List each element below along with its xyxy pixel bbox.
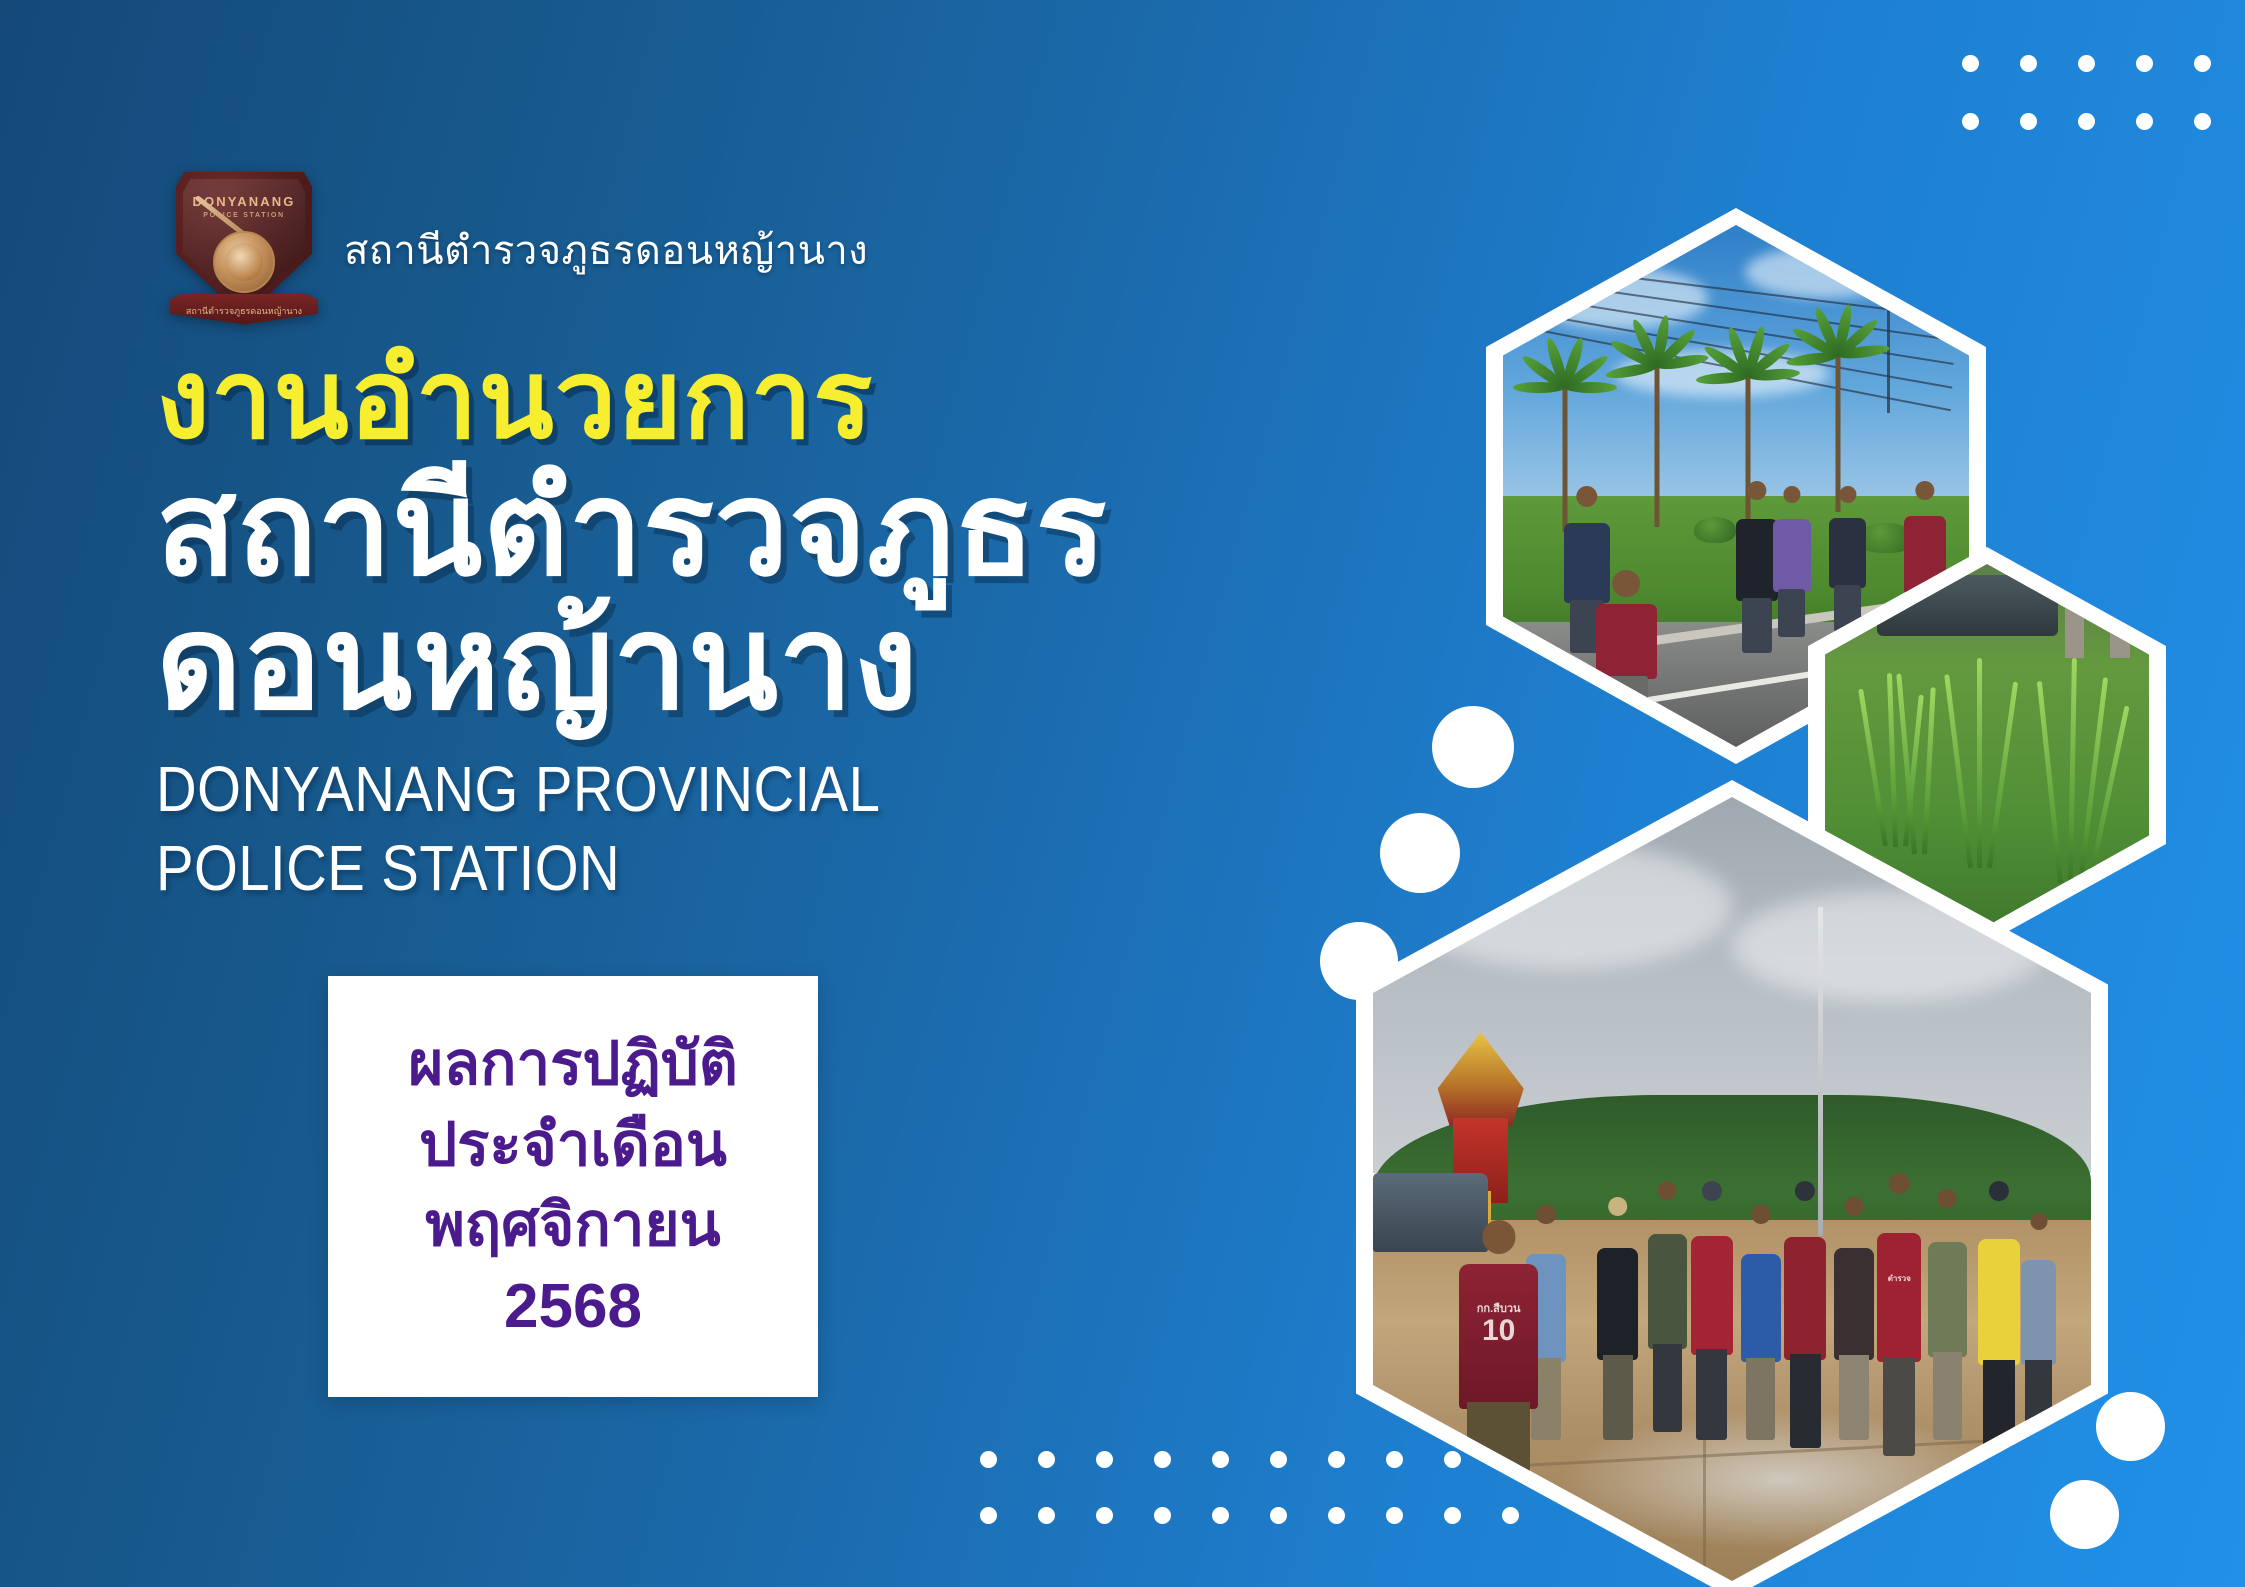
police-badge-icon: DONYANANG POLICE STATION สถานีตำรวจภูธรด…	[168, 168, 320, 332]
decor-dot	[1096, 1451, 1113, 1468]
attendee	[2019, 1213, 2058, 1440]
attendee	[1976, 1181, 2022, 1455]
decor-dot	[1444, 1451, 1461, 1468]
decor-dot	[1502, 1507, 1519, 1524]
attendee	[1596, 1197, 1641, 1440]
poster-canvas: DONYANANG POLICE STATION สถานีตำรวจภูธรด…	[0, 0, 2245, 1587]
attendee	[1689, 1181, 1735, 1440]
decor-dot	[2136, 113, 2153, 130]
decor-dot	[1962, 113, 1979, 130]
decor-dot	[2136, 55, 2153, 72]
report-line-3: พฤศจิกายน	[425, 1188, 720, 1262]
decor-dot	[1096, 1507, 1113, 1524]
decor-dot	[1328, 1507, 1345, 1524]
police-attendee: ตำรวจ	[1876, 1173, 1923, 1455]
jersey-badge-text: ตำรวจ	[1877, 1272, 1921, 1285]
decor-dot	[1328, 1451, 1345, 1468]
report-line-1: ผลการปฏิบัติ	[408, 1027, 738, 1101]
header-lockup: DONYANANG POLICE STATION สถานีตำรวจภูธรด…	[168, 168, 868, 332]
badge-top-text: DONYANANG	[168, 194, 320, 209]
dot-grid-top-right	[1921, 34, 2211, 150]
attendee	[1646, 1181, 1689, 1432]
subtitle-english-line-1: DONYANANG PROVINCIAL	[156, 755, 1265, 824]
report-line-2: ประจำเดือน	[419, 1108, 727, 1182]
subtitle-english-line-2: POLICE STATION	[156, 834, 1265, 903]
jersey-number: 10	[1459, 1316, 1538, 1346]
decor-dot	[2020, 113, 2037, 130]
station-name-heading: สถานีตำรวจภูธรดอนหญ้านาง	[344, 218, 868, 282]
decor-dot	[1212, 1507, 1229, 1524]
decor-dot	[1038, 1507, 1055, 1524]
decor-circle-large	[2096, 1392, 2165, 1461]
decor-dot	[2194, 55, 2211, 72]
decor-dot	[1154, 1507, 1171, 1524]
attendee	[1833, 1197, 1876, 1440]
decor-dot	[2020, 55, 2037, 72]
decor-dot	[1038, 1451, 1055, 1468]
decor-circle-large	[2050, 1480, 2119, 1549]
report-year: 2568	[504, 1269, 642, 1346]
headline-yellow: งานอำนวยการ	[156, 345, 1416, 455]
garuda-emblem-icon	[213, 231, 275, 293]
shrub	[1694, 517, 1736, 543]
badge-ribbon-text: สถานีตำรวจภูธรดอนหญ้านาง	[168, 304, 320, 318]
decor-dot	[2194, 113, 2211, 130]
decor-circle-large	[1432, 706, 1514, 788]
decor-dot	[2078, 113, 2095, 130]
shrine-roof	[1438, 1032, 1524, 1126]
instructor-jersey: กก.สืบวน 10	[1459, 1264, 1538, 1408]
headline-white-line-2: ดอนหญ้านาง	[156, 593, 1416, 733]
badge-sub-text: POLICE STATION	[168, 212, 320, 219]
headline-white-line-1: สถานีตำรวจภูธร	[156, 459, 1416, 599]
attendee	[1926, 1189, 1969, 1440]
decor-dot	[1212, 1451, 1229, 1468]
decor-dot	[1386, 1451, 1403, 1468]
worker	[1736, 481, 1778, 653]
palm-tree	[1624, 361, 1690, 527]
attendee	[1739, 1205, 1782, 1440]
decor-dot	[1270, 1451, 1287, 1468]
worker	[1829, 486, 1866, 632]
decor-dot	[2078, 55, 2095, 72]
attendee	[1782, 1181, 1828, 1448]
decor-dot	[1962, 55, 1979, 72]
decor-dot	[980, 1507, 997, 1524]
decor-dot	[980, 1451, 997, 1468]
grass-tuft	[1977, 658, 1982, 868]
decor-dot	[1154, 1451, 1171, 1468]
worker	[1773, 486, 1810, 637]
decor-dot	[1444, 1507, 1461, 1524]
instructor-head	[1482, 1220, 1515, 1253]
decor-dot	[1386, 1507, 1403, 1524]
headline-block: งานอำนวยการ สถานีตำรวจภูธร ดอนหญ้านาง DO…	[156, 345, 1416, 903]
decor-dot	[1270, 1507, 1287, 1524]
report-period-card: ผลการปฏิบัติ ประจำเดือน พฤศจิกายน 2568	[328, 976, 818, 1397]
